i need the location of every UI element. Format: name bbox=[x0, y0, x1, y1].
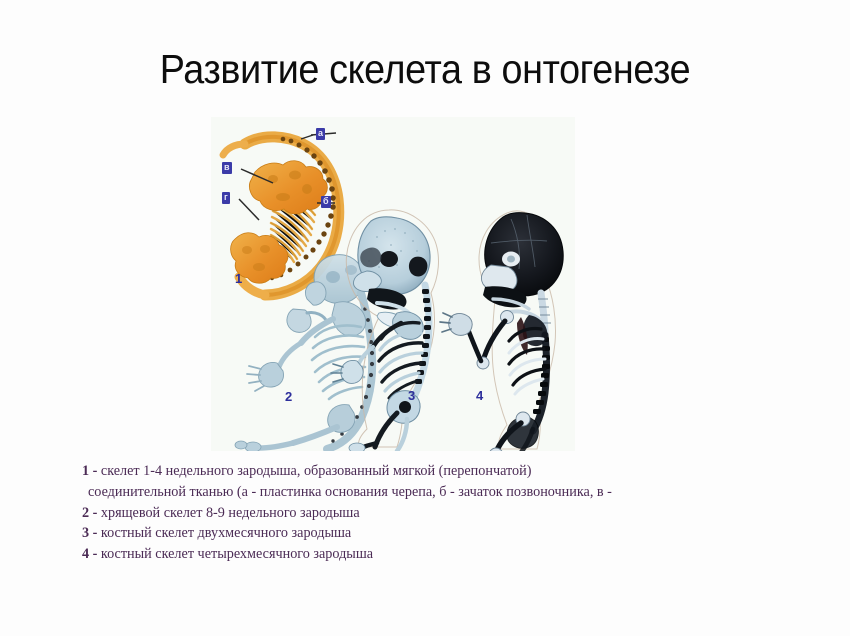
caption-line-1: 1 - скелет 1-4 недельного зародыша, обра… bbox=[82, 461, 782, 482]
caption-key-1: 1 - bbox=[82, 463, 97, 479]
caption-text-5: костный скелет четырехмесячного зародыша bbox=[97, 546, 373, 562]
figure-label-1: 1 bbox=[235, 272, 242, 285]
caption-text-4: костный скелет двухмесячного зародыша bbox=[97, 525, 351, 541]
caption-key-4: 3 - bbox=[82, 525, 97, 541]
figure-label-v: в bbox=[222, 162, 232, 174]
caption-text-2: соединительной тканью (а - пластинка осн… bbox=[88, 484, 612, 500]
skeletal-development-illustration: а в г б 1 2 3 4 bbox=[211, 117, 575, 451]
caption-text-3: хрящевой скелет 8-9 недельного зародыша bbox=[97, 505, 359, 521]
caption-line-4: 3 - костный скелет двухмесячного зародыш… bbox=[82, 523, 782, 544]
caption-key-5: 4 - bbox=[82, 546, 97, 562]
figure-label-2: 2 bbox=[285, 390, 292, 403]
caption-text-1: скелет 1-4 недельного зародыша, образова… bbox=[97, 463, 531, 479]
figure-label-3: 3 bbox=[408, 389, 415, 402]
caption-line-3: 2 - хрящевой скелет 8-9 недельного зарод… bbox=[82, 503, 782, 524]
figure-label-4: 4 bbox=[476, 389, 483, 402]
figure-caption: 1 - скелет 1-4 недельного зародыша, обра… bbox=[82, 461, 782, 565]
caption-key-3: 2 - bbox=[82, 505, 97, 521]
illustration-canvas bbox=[211, 117, 575, 451]
figure-label-b: б bbox=[321, 196, 331, 208]
slide-root: Развитие скелета в онтогенезе bbox=[0, 0, 850, 636]
figure-label-g: г bbox=[222, 192, 230, 204]
figure-label-a: а bbox=[316, 128, 325, 140]
caption-line-2: соединительной тканью (а - пластинка осн… bbox=[82, 482, 782, 503]
page-title: Развитие скелета в онтогенезе bbox=[34, 44, 816, 94]
caption-line-5: 4 - костный скелет четырехмесячного заро… bbox=[82, 544, 782, 565]
